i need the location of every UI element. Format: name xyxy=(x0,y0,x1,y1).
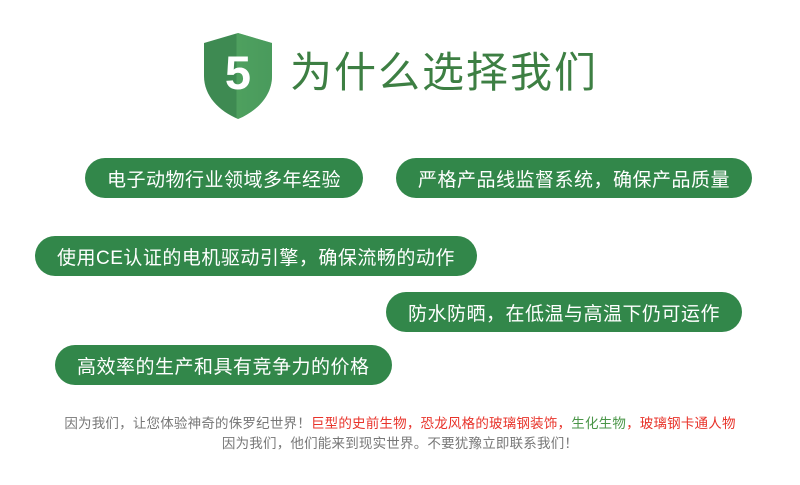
badge-number: 5 xyxy=(202,32,274,120)
feature-pill-price[interactable]: 高效率的生产和具有竞争力的价格 xyxy=(55,345,392,385)
why-choose-us-banner: 5 为什么选择我们 电子动物行业领域多年经验 严格产品线监督系统，确保产品质量 … xyxy=(0,0,800,485)
footer-highlight-red-2: ，玻璃钢卡通人物 xyxy=(626,416,736,431)
footer-highlight-green: 生化生物 xyxy=(571,416,626,431)
footer: 因为我们，让您体验神奇的侏罗纪世界！巨型的史前生物，恐龙风格的玻璃钢装饰，生化生… xyxy=(0,414,800,454)
header: 5 为什么选择我们 xyxy=(0,26,800,126)
feature-pill-weatherproof[interactable]: 防水防晒，在低温与高温下仍可运作 xyxy=(386,292,742,332)
footer-line-2: 因为我们，他们能来到现实世界。不要犹豫立即联系我们！ xyxy=(0,434,800,454)
feature-pill-experience[interactable]: 电子动物行业领域多年经验 xyxy=(85,158,363,198)
shield-badge: 5 xyxy=(202,32,274,120)
feature-pill-quality[interactable]: 严格产品线监督系统，确保产品质量 xyxy=(396,158,752,198)
footer-line-1: 因为我们，让您体验神奇的侏罗纪世界！巨型的史前生物，恐龙风格的玻璃钢装饰，生化生… xyxy=(0,414,800,434)
page-title: 为什么选择我们 xyxy=(290,52,598,100)
feature-pill-ce-motor[interactable]: 使用CE认证的电机驱动引擎，确保流畅的动作 xyxy=(35,236,477,276)
footer-line1-intro: 因为我们，让您体验神奇的侏罗纪世界！ xyxy=(64,416,311,431)
footer-highlight-red-1: 巨型的史前生物，恐龙风格的玻璃钢装饰， xyxy=(311,416,571,431)
